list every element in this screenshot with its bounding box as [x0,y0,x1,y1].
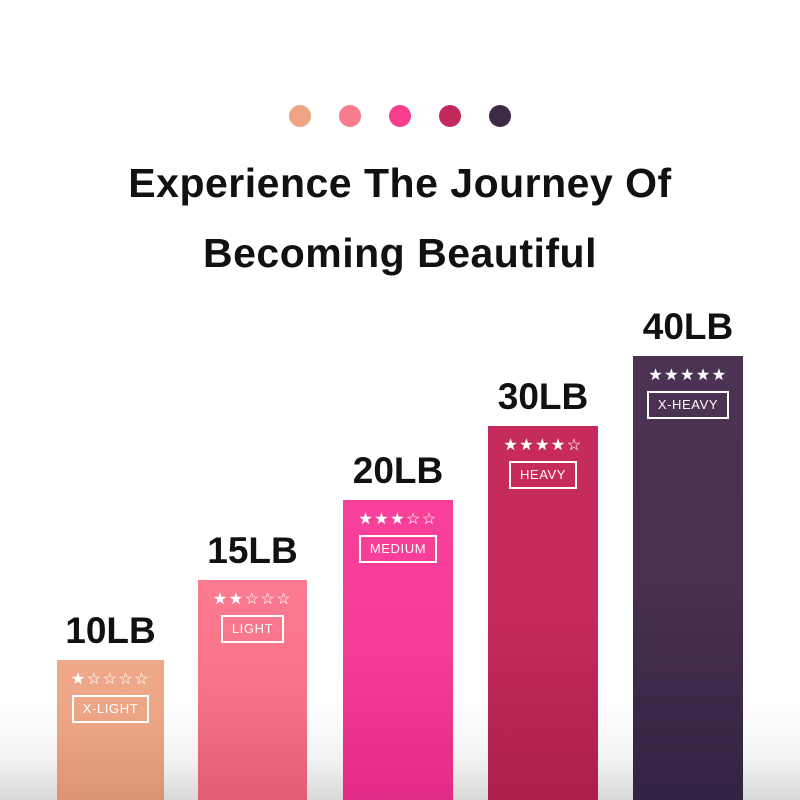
bar-20lb[interactable]: ★★★☆☆ MEDIUM [343,500,453,800]
level-badge-40lb: X-HEAVY [647,391,729,419]
bar-content-15lb: ★★☆☆☆ LIGHT [198,590,307,643]
bar-group-20lb: 20LB ★★★☆☆ MEDIUM [343,75,453,800]
bar-group-10lb: 10LB ★☆☆☆☆ X-LIGHT [57,75,164,800]
star-rating-20lb: ★★★☆☆ [358,510,437,530]
bar-30lb[interactable]: ★★★★☆ HEAVY [488,426,598,800]
level-badge-10lb: X-LIGHT [72,695,149,723]
bar-40lb[interactable]: ★★★★★ X-HEAVY [633,356,743,800]
resistance-bar-chart: 10LB ★☆☆☆☆ X-LIGHT 15LB ★★☆☆☆ LIGHT 20LB [0,0,800,800]
bar-content-10lb: ★☆☆☆☆ X-LIGHT [57,670,164,723]
bar-weight-label-20lb: 20LB [343,450,453,492]
level-badge-30lb: HEAVY [509,461,577,489]
level-badge-15lb: LIGHT [221,615,284,643]
bar-content-40lb: ★★★★★ X-HEAVY [633,366,743,419]
bar-group-30lb: 30LB ★★★★☆ HEAVY [488,75,598,800]
bar-content-30lb: ★★★★☆ HEAVY [488,436,598,489]
bar-10lb[interactable]: ★☆☆☆☆ X-LIGHT [57,660,164,800]
bar-15lb[interactable]: ★★☆☆☆ LIGHT [198,580,307,800]
bar-group-40lb: 40LB ★★★★★ X-HEAVY [633,75,743,800]
level-badge-20lb: MEDIUM [359,535,437,563]
bar-group-15lb: 15LB ★★☆☆☆ LIGHT [198,75,307,800]
star-rating-10lb: ★☆☆☆☆ [71,670,150,690]
bar-weight-label-10lb: 10LB [57,610,164,652]
star-rating-30lb: ★★★★☆ [503,436,582,456]
bar-weight-label-30lb: 30LB [488,376,598,418]
product-infographic: Experience The Journey Of Becoming Beaut… [0,0,800,800]
bar-weight-label-40lb: 40LB [633,306,743,348]
star-rating-40lb: ★★★★★ [648,366,727,386]
bar-weight-label-15lb: 15LB [198,530,307,572]
star-rating-15lb: ★★☆☆☆ [213,590,292,610]
bar-content-20lb: ★★★☆☆ MEDIUM [343,510,453,563]
